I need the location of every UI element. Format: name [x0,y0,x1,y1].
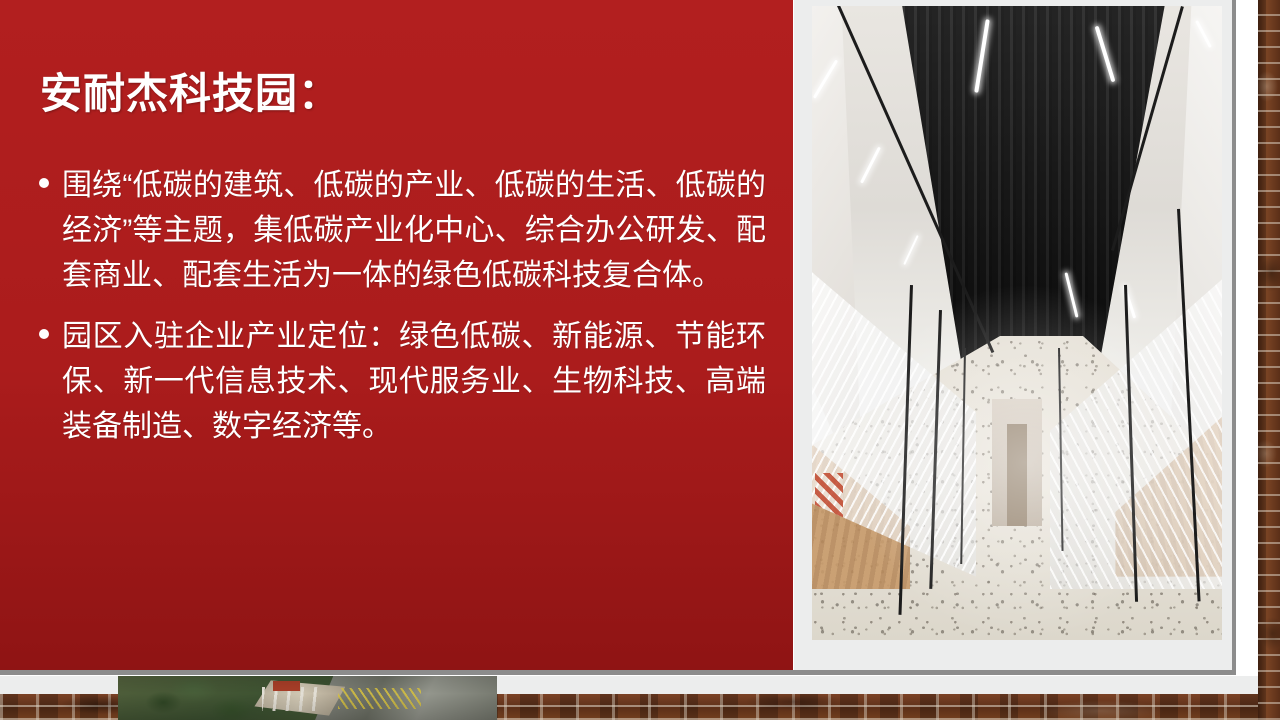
main-photo-mat [812,6,1222,640]
bullet-list: 围绕“低碳的建筑、低碳的产业、低碳的生活、低碳的经济”等主题，集低碳产业化中心、… [36,163,766,465]
brick-wall-texture-right [1258,0,1280,720]
bullet-dot-icon [39,329,49,339]
aerial-shading [118,676,497,720]
photo-light-sheen [812,6,1222,640]
list-item-text: 园区入驻企业产业定位：绿色低碳、新能源、节能环保、新一代信息技术、现代服务业、生… [62,320,766,443]
list-item: 园区入驻企业产业定位：绿色低碳、新能源、节能环保、新一代信息技术、现代服务业、生… [36,314,766,449]
bottom-mat-left [0,676,118,694]
presentation-slide: 安耐杰科技园： 围绕“低碳的建筑、低碳的产业、低碳的生活、低碳的经济”等主题，集… [0,0,1280,720]
bullet-dot-icon [39,178,49,188]
list-item: 围绕“低碳的建筑、低碳的产业、低碳的生活、低碳的经济”等主题，集低碳产业化中心、… [36,163,766,298]
aerial-construction-photo [118,676,497,720]
bottom-mat-right [497,676,1258,694]
card-bottom-border [0,670,1236,675]
office-corridor-photo [812,6,1222,640]
red-content-panel: 安耐杰科技园： 围绕“低碳的建筑、低碳的产业、低碳的生活、低碳的经济”等主题，集… [0,0,793,670]
main-photo-frame [794,0,1232,670]
list-item-text: 围绕“低碳的建筑、低碳的产业、低碳的生活、低碳的经济”等主题，集低碳产业化中心、… [62,169,766,292]
page-title: 安耐杰科技园： [40,69,740,119]
slide-card: 安耐杰科技园： 围绕“低碳的建筑、低碳的产业、低碳的生活、低碳的经济”等主题，集… [0,0,1258,694]
